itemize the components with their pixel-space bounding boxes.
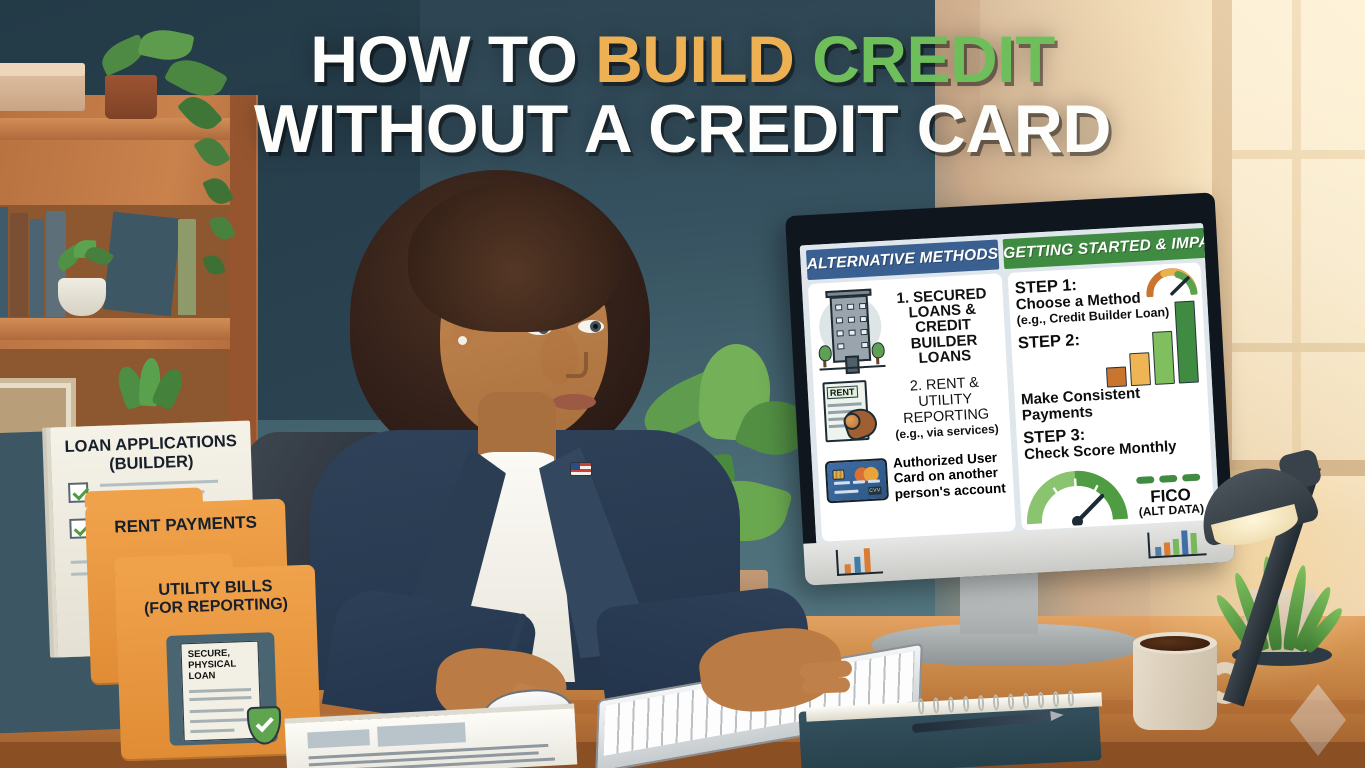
method-item-authorized-user: CVV Authorized User Card on another pers… [824, 441, 1007, 513]
small-gauge-icon [1144, 264, 1198, 297]
iris-right [590, 321, 601, 332]
getting-started-card: STEP 1: Choose a Method (e.g., Credit Bu… [1007, 262, 1215, 530]
title-credit: CREDIT [812, 22, 1055, 96]
office-building-icon [815, 288, 886, 376]
bookshelf-plank-mid [0, 318, 256, 340]
flag-lapel-pin [570, 462, 592, 476]
lips [552, 394, 596, 410]
hair-front [408, 182, 620, 332]
card-cvv-label: CVV [868, 486, 881, 495]
infographic: ALTERNATIVE METHODS GETTING STARTED & IM… [800, 223, 1220, 545]
secure-loan-document-card: SECURE, PHYSICAL LOAN [166, 632, 278, 746]
score-dash [1136, 476, 1154, 484]
method-item-secured-loans: 1. SECURED LOANS & CREDIT BUILDER LOANS [815, 280, 999, 378]
finger [802, 677, 850, 694]
rent-doc-tag: RENT [827, 386, 858, 400]
method-label-authorized-user: Authorized User Card on another person's… [893, 450, 1007, 501]
method-label-rent-utility: 2. RENT & UTILITY REPORTING (e.g., via s… [888, 374, 1003, 442]
bezel-bar-chart-left [836, 547, 883, 576]
title-build: BUILD [595, 22, 794, 96]
computer-monitor[interactable]: ALTERNATIVE METHODS GETTING STARTED & IM… [785, 192, 1235, 585]
book [178, 219, 196, 315]
score-dash [1159, 475, 1177, 483]
verified-shield-check-icon [247, 706, 282, 745]
rent-payments-label: RENT PAYMENTS [85, 513, 286, 538]
illustration-canvas: ALTERNATIVE METHODS GETTING STARTED & IM… [0, 0, 1365, 768]
alternative-methods-card: 1. SECURED LOANS & CREDIT BUILDER LOANS … [808, 273, 1016, 541]
fico-score-label: FICO (ALT DATA) [1137, 486, 1204, 520]
nose [566, 352, 588, 378]
fico-subtitle: (ALT DATA) [1138, 503, 1204, 520]
book-leaning [103, 212, 181, 317]
rent-document-hand-coin-icon: RENT [820, 377, 886, 448]
title-space [794, 22, 812, 96]
score-dash [1182, 474, 1200, 482]
infographic-columns: 1. SECURED LOANS & CREDIT BUILDER LOANS … [808, 262, 1215, 542]
coffee-surface [1140, 636, 1210, 651]
earring [458, 336, 467, 345]
step-2-text: Make Consistent Payments [1021, 382, 1202, 425]
credit-growth-bar-chart [1102, 300, 1200, 387]
secure-loan-line-3: LOAN [188, 671, 215, 682]
title-how-to: HOW TO [310, 22, 595, 96]
bar-2 [1129, 352, 1151, 386]
score-dashes [1136, 474, 1200, 485]
bezel-bar-chart-right [1147, 529, 1206, 558]
bar-1 [1106, 366, 1127, 387]
book [0, 207, 8, 317]
title-line-2: WITHOUT A CREDIT CARD [0, 94, 1365, 164]
bar-4 [1174, 301, 1199, 384]
book [30, 219, 44, 317]
method-item-rent-utility: RENT 2. RENT & UTILITY REPORTING (e. [820, 368, 1003, 452]
credit-card-icon: CVV [825, 458, 889, 503]
bar-3 [1152, 331, 1175, 385]
page-title: HOW TO BUILD CREDIT WITHOUT A CREDIT CAR… [0, 24, 1365, 164]
monitor-screen[interactable]: ALTERNATIVE METHODS GETTING STARTED & IM… [800, 223, 1220, 545]
fico-gauge-icon [1022, 467, 1129, 529]
method-label-secured-loans: 1. SECURED LOANS & CREDIT BUILDER LOANS [887, 285, 999, 367]
book [10, 213, 28, 317]
